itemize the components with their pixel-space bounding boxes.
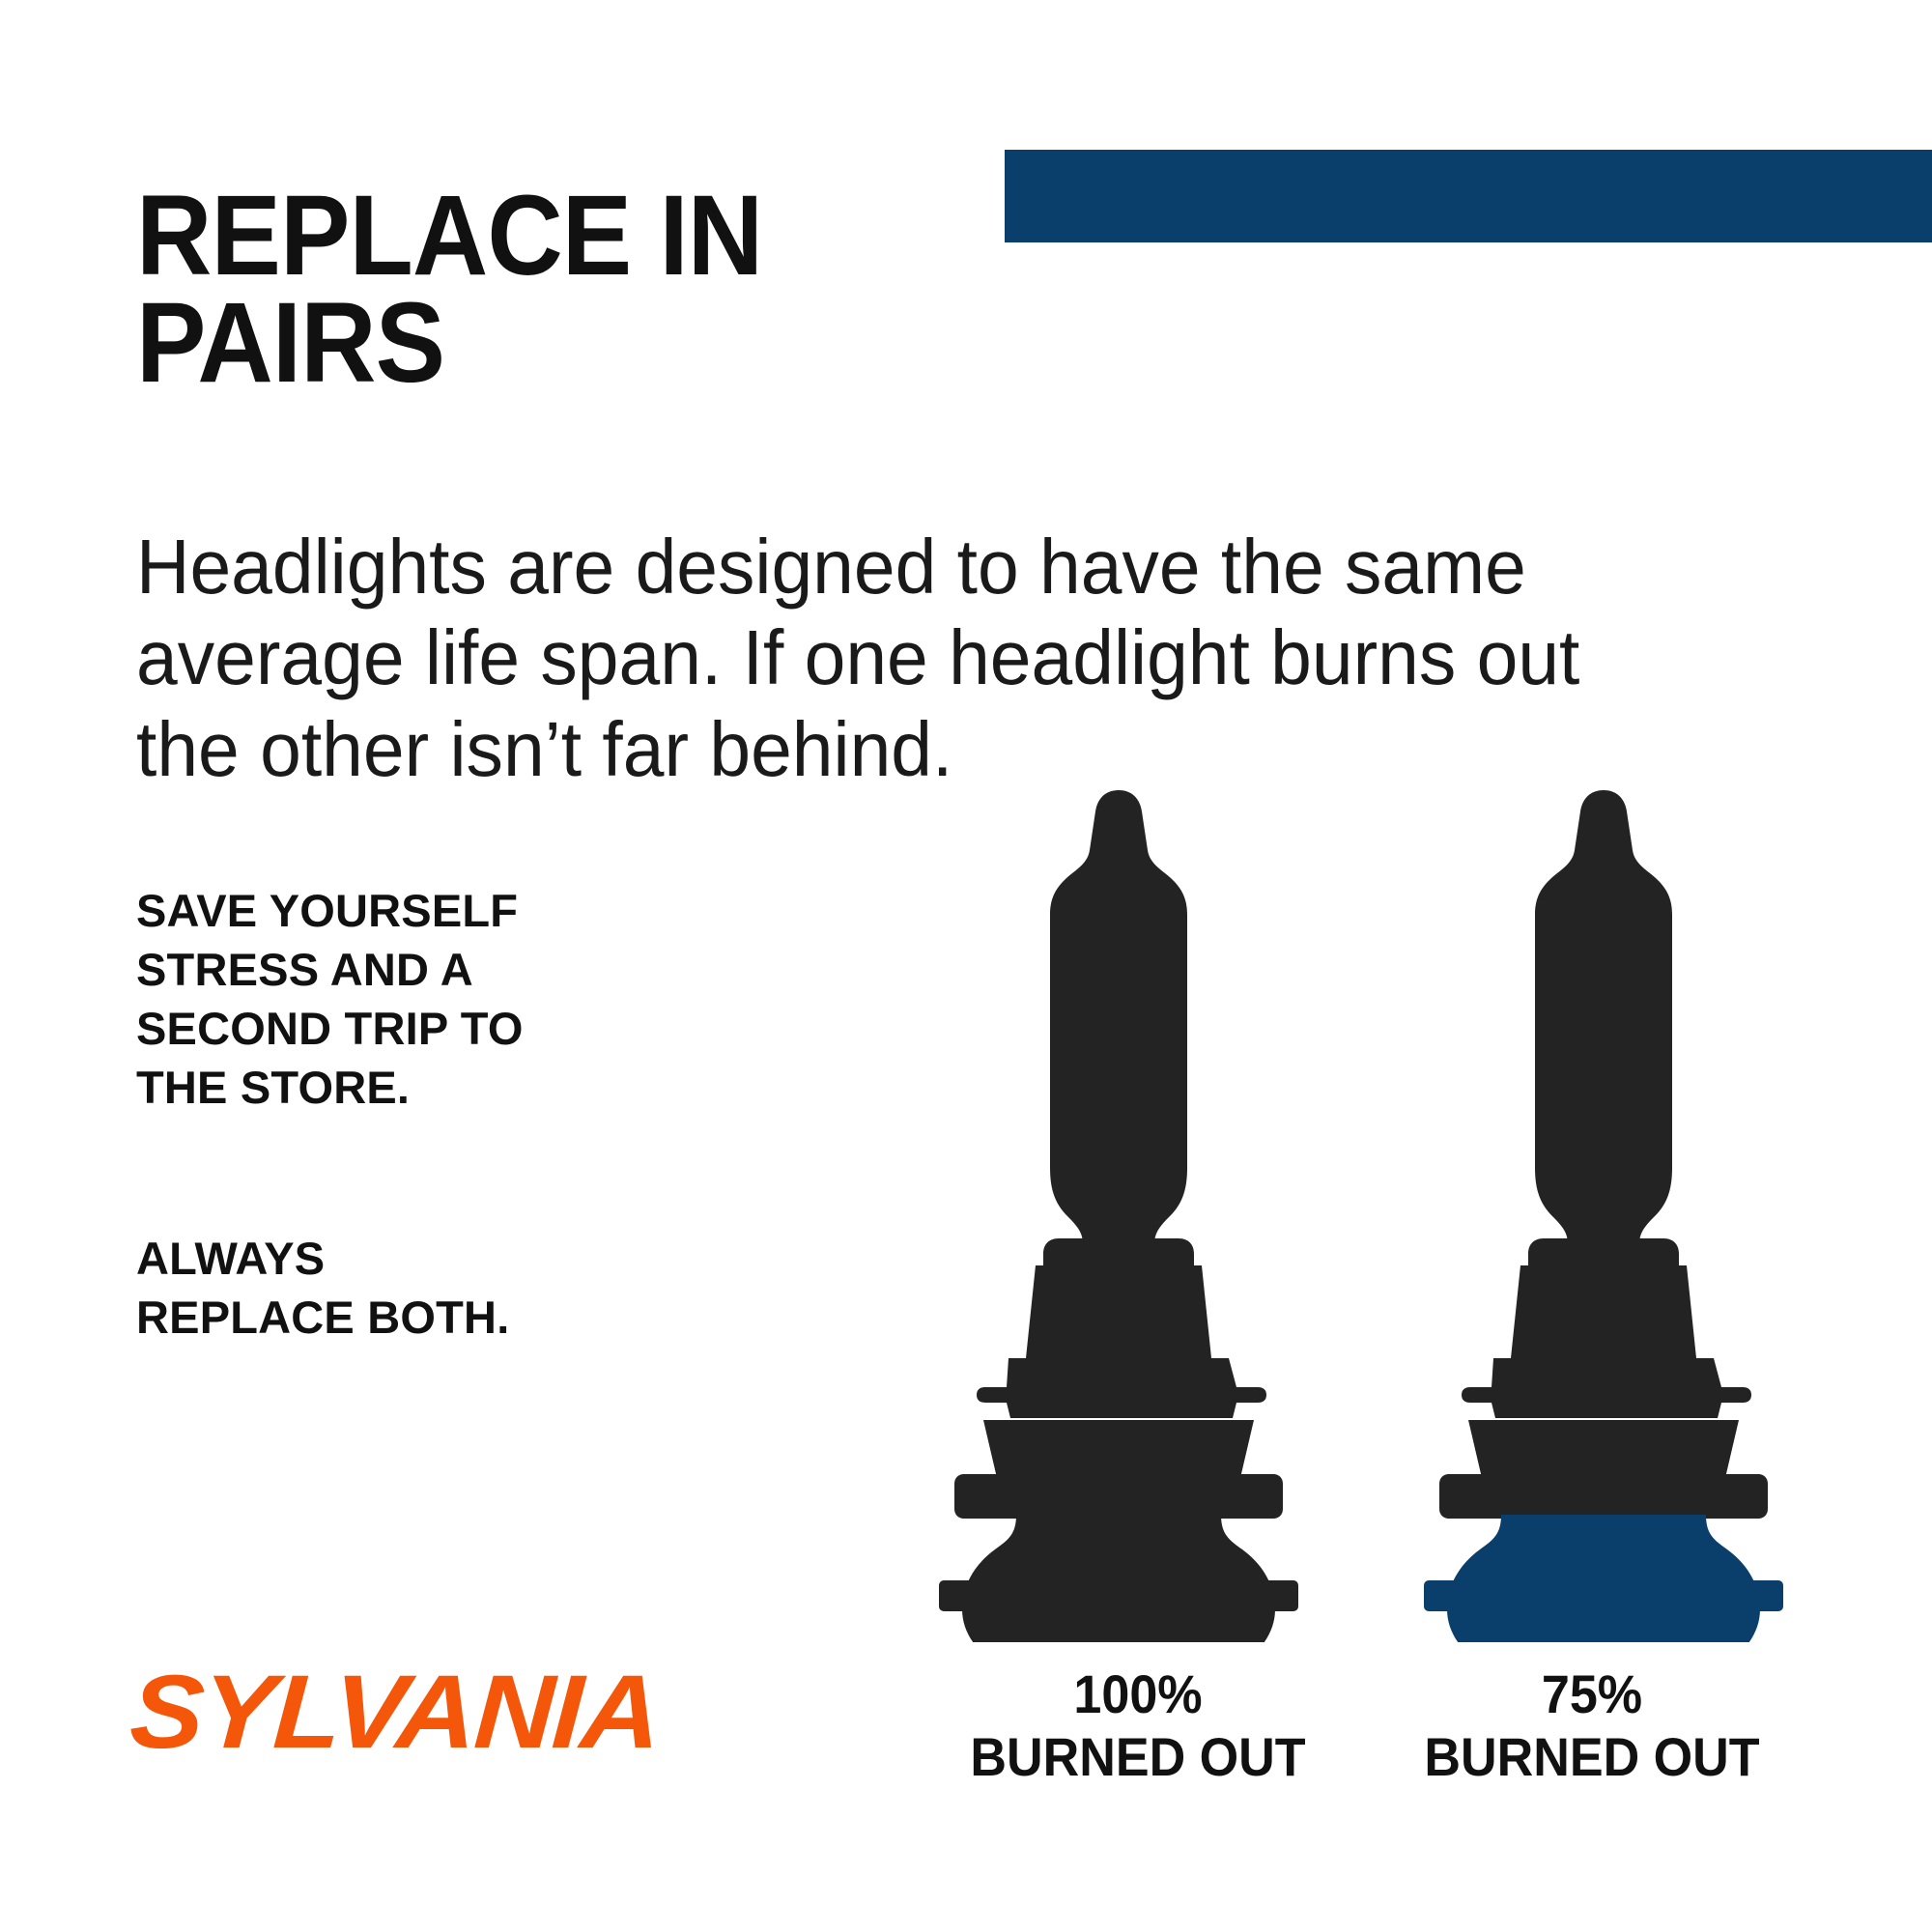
bulb-right-bowl-highlight: [1424, 1515, 1783, 1642]
infographic-canvas: REPLACE IN PAIRS Headlights are designed…: [0, 0, 1932, 1932]
bulb-right-caption: 75% BURNED OUT: [1404, 1663, 1781, 1789]
sylvania-logo: SYLVANIA: [128, 1660, 662, 1764]
bulb-left: [935, 773, 1302, 1642]
accent-bar: [1005, 150, 1932, 242]
bulb-right-state: BURNED OUT: [1404, 1726, 1781, 1789]
bulb-right-base-icon: [1439, 1238, 1768, 1519]
bulb-left-base-icon: [939, 1238, 1298, 1642]
bulb-left-caption: 100% BURNED OUT: [950, 1663, 1327, 1789]
bulb-left-state: BURNED OUT: [950, 1726, 1327, 1789]
bulb-right-percent: 75%: [1404, 1663, 1781, 1726]
bulb-illustration-group: [908, 773, 1932, 1642]
callout-always-replace: ALWAYS REPLACE BOTH.: [136, 1229, 696, 1347]
bulb-left-glass-icon: [1050, 790, 1187, 1279]
bulb-right: [1420, 773, 1787, 1642]
page-title: REPLACE IN PAIRS: [136, 183, 919, 397]
bulb-left-percent: 100%: [950, 1663, 1327, 1726]
body-paragraph: Headlights are designed to have the same…: [136, 522, 1694, 795]
callout-save-yourself: SAVE YOURSELF STRESS AND A SECOND TRIP T…: [136, 881, 696, 1117]
bulb-right-glass-icon: [1535, 790, 1672, 1279]
